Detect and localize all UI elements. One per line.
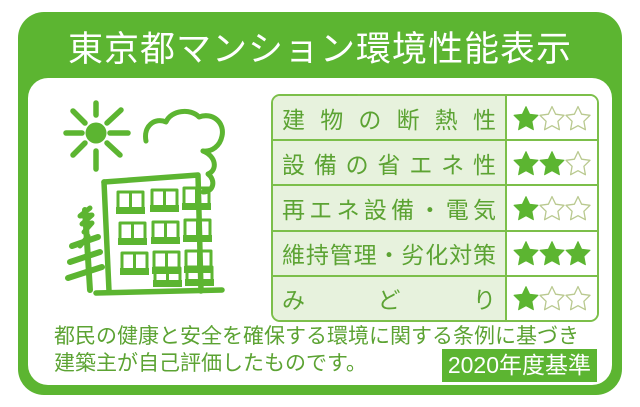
table-row: 設 備 の 省 エ ネ 性 [273,141,597,186]
star-empty-icon [539,285,565,311]
page-title: 東京都マンション環境性能表示 [68,32,572,67]
conifer-tree-icon [68,208,102,290]
label-char: 維 [282,236,305,270]
star-empty-icon [539,105,565,131]
rating-label-maintenance-durability: 維 持 管 理 ・ 劣 化 対 策 [273,232,507,275]
rating-stars-insulation [507,96,597,139]
label-char: 備 [314,146,337,180]
footer-line-1: 都民の健康と安全を確保する環境に関する条例に基づき [54,323,594,350]
label-char: 物 [320,101,343,135]
label-char: ど [378,281,401,315]
label-char: 化 [425,236,448,270]
star-filled-icon [513,150,539,176]
label-char: の [346,146,369,180]
label-char: 持 [306,236,329,270]
table-row: 建 物 の 断 熱 性 [273,96,597,141]
star-empty-icon [565,195,591,221]
rating-stars-equipment-energy-saving [507,141,597,184]
label-char: 熱 [435,101,458,135]
label-char: 設 [364,191,387,225]
label-char: 性 [473,146,496,180]
rating-stars-maintenance-durability [507,232,597,275]
label-char: エ [309,191,332,225]
table-row: 維 持 管 理 ・ 劣 化 対 策 [273,232,597,277]
label-char: 気 [473,191,496,225]
label-char: 電 [446,191,469,225]
star-empty-icon [565,105,591,131]
star-filled-icon [565,240,591,266]
sun-icon [66,103,128,169]
label-char: 対 [449,236,472,270]
star-empty-icon [539,195,565,221]
rating-label-renewable-energy-electricity: 再 エ ネ 設 備 ・ 電 気 [273,186,507,229]
label-char: 再 [282,191,305,225]
label-char: 劣 [401,236,424,270]
table-row: 再 エ ネ 設 備 ・ 電 気 [273,186,597,231]
label-char: ネ [441,146,464,180]
label-char: 管 [330,236,353,270]
label-char: 策 [473,236,496,270]
label-char: 理 [354,236,377,270]
poster-title-bar: 東京都マンション環境性能表示 [18,12,622,86]
label-char: み [282,281,305,315]
poster-content-panel: 建 物 の 断 熱 性 設 備 の 省 エ ネ 性 [28,78,612,385]
star-filled-icon [513,195,539,221]
rating-label-equipment-energy-saving: 設 備 の 省 エ ネ 性 [273,141,507,184]
star-filled-icon [513,105,539,131]
rating-label-insulation: 建 物 の 断 熱 性 [273,96,507,139]
label-char: エ [409,146,432,180]
label-char: 建 [282,101,305,135]
rating-stars-greenery [507,277,597,320]
label-char: 省 [377,146,400,180]
environmental-performance-poster: 東京都マンション環境性能表示 [18,12,622,395]
star-filled-icon [539,240,565,266]
label-char: の [358,101,381,135]
label-char: 備 [391,191,414,225]
label-char: ネ [337,191,360,225]
rating-label-greenery: み ど り [273,277,507,320]
label-char: 断 [397,101,420,135]
label-char: 設 [282,146,305,180]
label-char: ・ [378,236,401,270]
star-filled-icon [513,285,539,311]
star-filled-icon [513,240,539,266]
rating-stars-renewable-energy-electricity [507,186,597,229]
year-standard-badge: 2020年度基準 [442,349,597,382]
star-filled-icon [539,150,565,176]
footer-note: 都民の健康と安全を確保する環境に関する条例に基づき 建築主が自己評価したものです… [54,323,594,379]
ratings-table: 建 物 の 断 熱 性 設 備 の 省 エ ネ 性 [271,94,599,322]
star-empty-icon [565,150,591,176]
label-char: ・ [418,191,441,225]
label-char: り [473,281,496,315]
table-row: み ど り [273,277,597,320]
eco-building-illustration [40,86,268,314]
label-char: 性 [473,101,496,135]
star-empty-icon [565,285,591,311]
